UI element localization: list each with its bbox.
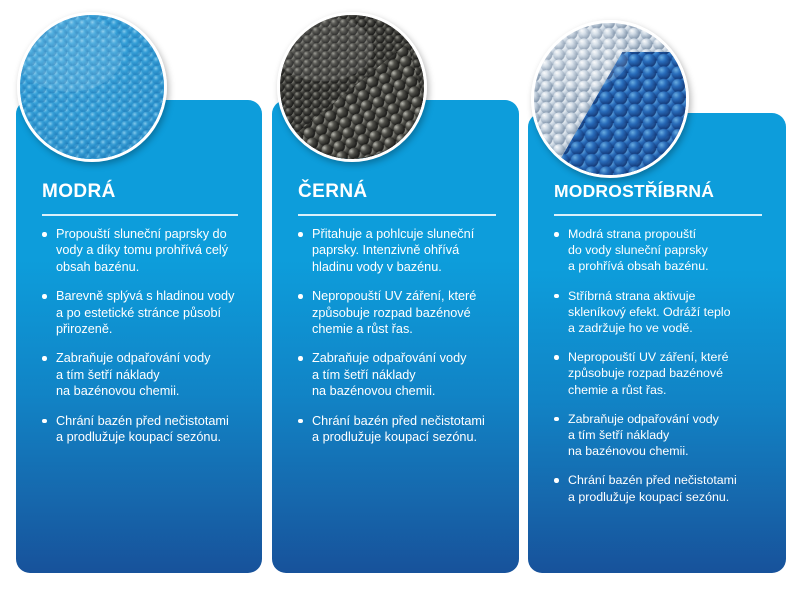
list-item: Zabraňuje odpařování vody a tím šetří ná… <box>298 350 507 399</box>
card-modra: MODRÁ Propouští sluneční paprsky do vody… <box>16 100 262 573</box>
card-title-modrostribrna: MODROSTŘÍBRNÁ <box>554 181 714 202</box>
list-item: Přitahuje a pohlcuje sluneční paprsky. I… <box>298 226 507 275</box>
list-item: Zabraňuje odpařování vody a tím šetří ná… <box>554 411 774 460</box>
benefit-list-modra: Propouští sluneční paprsky do vody a dík… <box>42 226 250 458</box>
card-title-modra: MODRÁ <box>42 181 116 203</box>
list-item: Modrá strana propouští do vody sluneční … <box>554 226 774 275</box>
benefit-list-cerna: Přitahuje a pohlcuje sluneční paprsky. I… <box>298 226 507 458</box>
card-title-cerna: ČERNÁ <box>298 181 368 203</box>
title-divider <box>554 214 762 216</box>
title-divider <box>42 214 238 216</box>
title-divider <box>298 214 496 216</box>
list-item: Propouští sluneční paprsky do vody a dík… <box>42 226 250 275</box>
list-item: Zabraňuje odpařování vody a tím šetří ná… <box>42 350 250 399</box>
benefit-list-modrostribrna: Modrá strana propouští do vody sluneční … <box>554 226 774 518</box>
list-item: Stříbrná strana aktivuje skleníkový efek… <box>554 288 774 337</box>
card-modrostribrna: MODROSTŘÍBRNÁ Modrá strana propouští do … <box>528 113 786 573</box>
list-item: Chrání bazén před nečistotami a prodlužu… <box>42 413 250 446</box>
pool-cover-comparison-infographic: MODRÁ Propouští sluneční paprsky do vody… <box>0 0 800 590</box>
list-item: Nepropouští UV záření, které způsobuje r… <box>298 288 507 337</box>
black-bubble-cover-photo <box>277 12 427 162</box>
blue-silver-bubble-cover-photo <box>531 20 689 178</box>
list-item: Chrání bazén před nečistotami a prodlužu… <box>554 472 774 504</box>
list-item: Barevně splývá s hladinou vody a po este… <box>42 288 250 337</box>
card-cerna: ČERNÁ Přitahuje a pohlcuje sluneční papr… <box>272 100 519 573</box>
blue-bubble-cover-photo <box>17 12 167 162</box>
list-item: Chrání bazén před nečistotami a prodlužu… <box>298 413 507 446</box>
list-item: Nepropouští UV záření, které způsobuje r… <box>554 349 774 398</box>
